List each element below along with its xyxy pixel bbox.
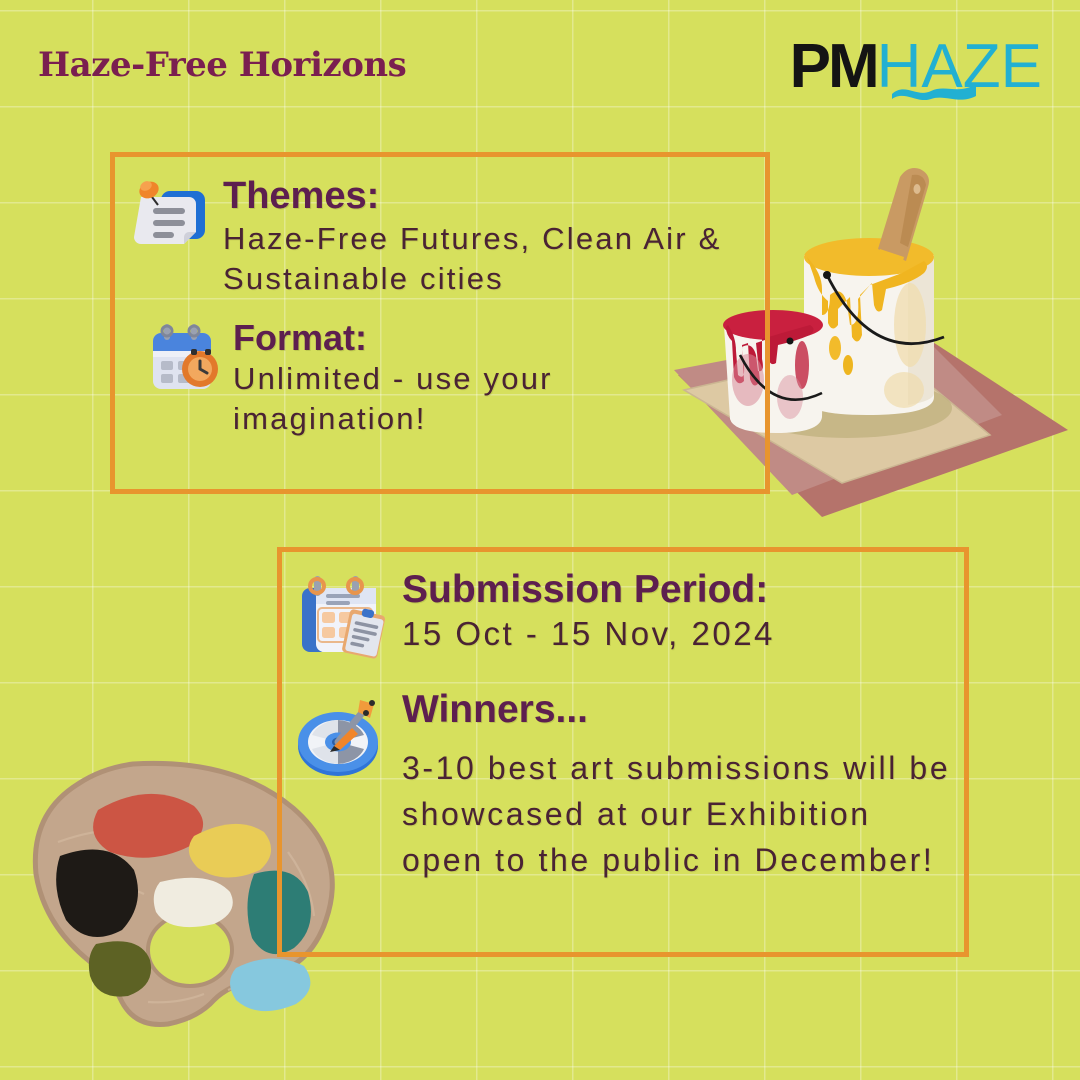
calendar-clipboard-icon	[294, 570, 386, 662]
submission-period-body: 15 Oct - 15 Nov, 2024	[402, 613, 954, 656]
pm-haze-logo: PM HAZE	[790, 36, 1042, 98]
winners-heading: Winners...	[402, 690, 954, 731]
submission-period-heading: Submission Period:	[402, 570, 954, 611]
format-heading: Format:	[233, 319, 745, 357]
poster-canvas: Haze-Free Horizons PM HAZE	[0, 0, 1080, 1080]
logo-haze-wrap: HAZE	[877, 36, 1042, 98]
memo-pushpin-icon	[133, 177, 213, 257]
entry-winners: Winners... 3-10 best art submissions wil…	[294, 690, 954, 883]
themes-format-box: Themes: Haze-Free Futures, Clean Air & S…	[110, 152, 770, 494]
dartboard-icon	[294, 690, 386, 782]
entry-themes: Themes: Haze-Free Futures, Clean Air & S…	[133, 177, 745, 299]
format-body: Unlimited - use your imagination!	[233, 359, 745, 440]
themes-body: Haze-Free Futures, Clean Air & Sustainab…	[223, 219, 745, 300]
page-title: Haze-Free Horizons	[38, 45, 406, 85]
themes-heading: Themes:	[223, 177, 745, 217]
entry-submission-text: Submission Period: 15 Oct - 15 Nov, 2024	[402, 570, 954, 656]
calendar-clock-icon	[145, 319, 223, 397]
entry-winners-text: Winners... 3-10 best art submissions wil…	[402, 690, 954, 883]
entry-format: Format: Unlimited - use your imagination…	[145, 319, 745, 439]
wave-icon	[891, 78, 977, 100]
entry-format-text: Format: Unlimited - use your imagination…	[233, 319, 745, 439]
winners-body: 3-10 best art submissions will be showca…	[402, 745, 954, 883]
entry-submission-period: Submission Period: 15 Oct - 15 Nov, 2024	[294, 570, 954, 662]
submission-winners-box: Submission Period: 15 Oct - 15 Nov, 2024	[277, 547, 969, 957]
entry-themes-text: Themes: Haze-Free Futures, Clean Air & S…	[223, 177, 745, 299]
logo-text-pm: PM	[790, 36, 877, 98]
